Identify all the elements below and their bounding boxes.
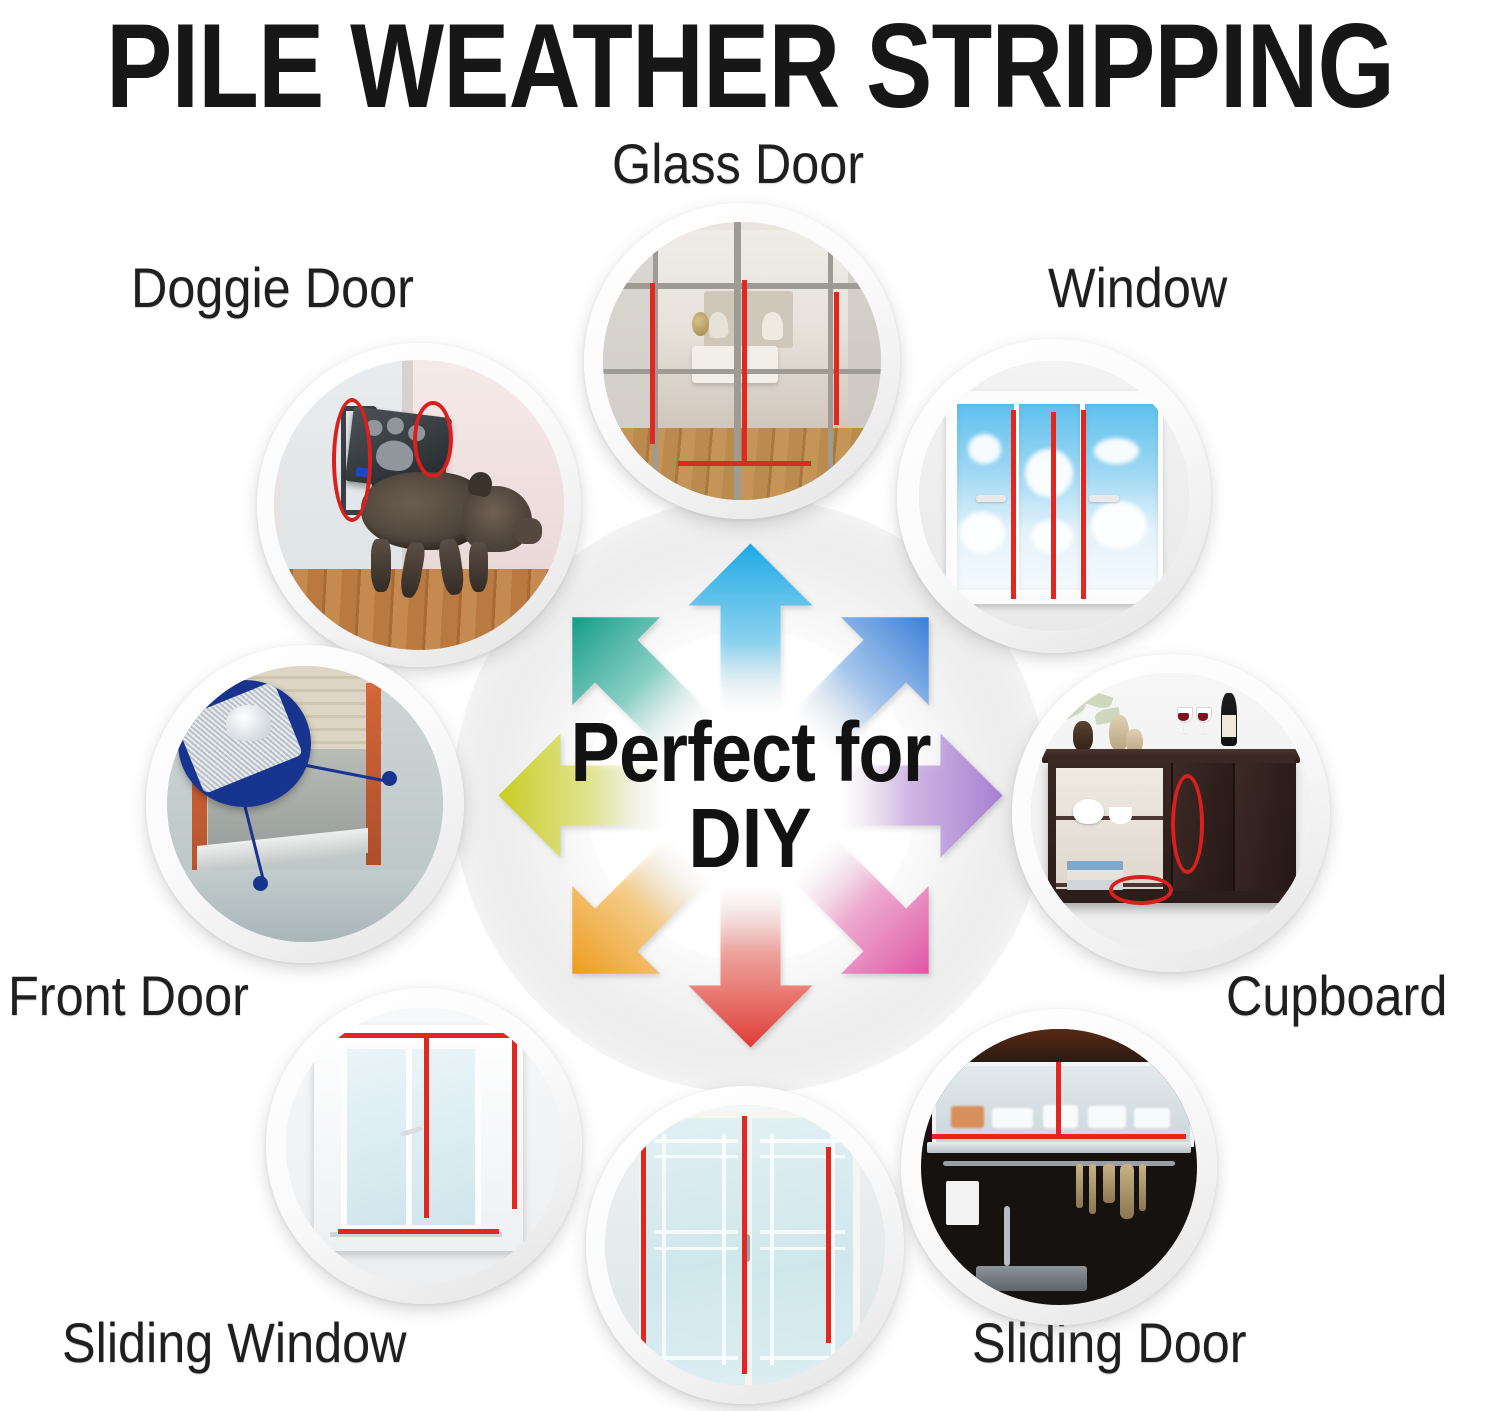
use-case-window[interactable]	[897, 339, 1211, 653]
pile-detail-callout	[178, 680, 310, 807]
label-front-door: Front Door	[8, 963, 249, 1028]
label-window: Window	[1048, 255, 1227, 320]
use-case-cupboard[interactable]	[1012, 654, 1330, 972]
window-photo	[919, 361, 1189, 631]
label-doggie-door: Doggie Door	[131, 255, 414, 320]
label-glass-door: Glass Door	[612, 131, 864, 196]
label-cupboard: Cupboard	[1226, 963, 1447, 1028]
cupboard-photo	[1031, 673, 1311, 953]
use-case-glass-door[interactable]	[584, 203, 900, 519]
sliding-door-photo	[921, 1029, 1197, 1305]
front-door-panel-photo	[605, 1105, 885, 1385]
page-title: PILE WEATHER STRIPPING	[53, 0, 1448, 135]
use-case-sliding-door[interactable]	[901, 1009, 1217, 1325]
label-sliding-window: Sliding Window	[62, 1310, 407, 1375]
front-door-photo	[167, 666, 443, 942]
doggie-door-photo	[274, 360, 564, 650]
glass-door-photo	[603, 222, 881, 500]
sliding-window-photo	[286, 1008, 562, 1284]
label-sliding-door: Sliding Door	[972, 1310, 1247, 1375]
use-case-doggie-door[interactable]	[257, 343, 581, 667]
center-hub-glow	[586, 631, 916, 961]
use-case-front-door[interactable]	[146, 645, 464, 963]
use-case-sliding-window[interactable]	[266, 988, 582, 1304]
infographic-canvas: PILE WEATHER STRIPPING	[0, 0, 1500, 1411]
use-case-front-door-panel[interactable]	[586, 1086, 904, 1404]
